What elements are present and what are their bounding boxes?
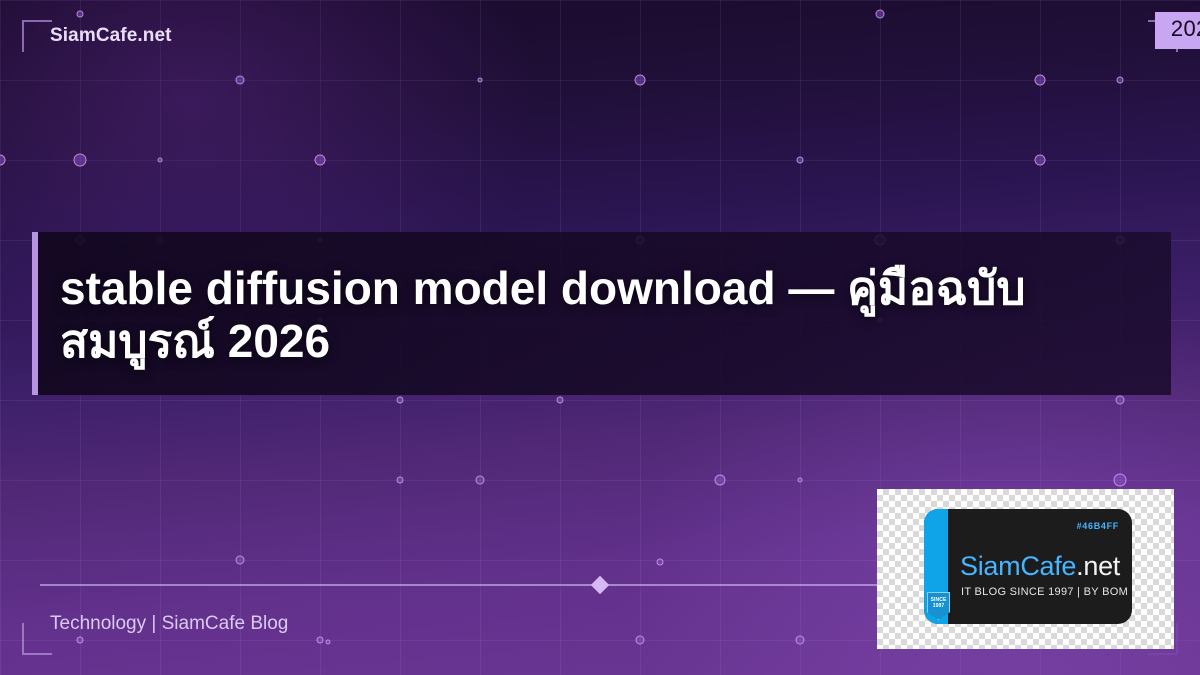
decorative-node bbox=[1035, 155, 1046, 166]
decorative-node bbox=[635, 75, 646, 86]
brand-name: SiamCafe.net bbox=[50, 25, 172, 47]
divider-diamond-marker bbox=[591, 576, 609, 594]
decorative-node bbox=[796, 636, 805, 645]
decorative-node bbox=[1116, 396, 1125, 405]
corner-bracket-bottom-left bbox=[22, 623, 52, 655]
decorative-node bbox=[476, 476, 485, 485]
decorative-node bbox=[798, 478, 803, 483]
decorative-node bbox=[636, 636, 645, 645]
decorative-node bbox=[478, 78, 483, 83]
decorative-node bbox=[315, 155, 326, 166]
decorative-node bbox=[1035, 75, 1046, 86]
logo-card: SINCE 1997 #46B4FF SiamCafe.net IT BLOG … bbox=[877, 489, 1174, 649]
decorative-node bbox=[0, 155, 6, 166]
decorative-node bbox=[397, 397, 404, 404]
logo-hex-label: #46B4FF bbox=[1077, 521, 1119, 531]
page-title: stable diffusion model download — คู่มือ… bbox=[60, 262, 1137, 369]
decorative-node bbox=[317, 637, 324, 644]
logo-tagline: IT BLOG SINCE 1997 | BY BOM bbox=[961, 586, 1128, 598]
decorative-node bbox=[1114, 474, 1127, 487]
decorative-node bbox=[657, 559, 664, 566]
decorative-node bbox=[1117, 77, 1124, 84]
decorative-node bbox=[876, 10, 885, 19]
logo-wordmark: SiamCafe.net bbox=[960, 551, 1120, 582]
decorative-node bbox=[236, 76, 245, 85]
footer-category-line: Technology | SiamCafe Blog bbox=[50, 613, 288, 635]
decorative-node bbox=[715, 475, 726, 486]
logo-wordmark-primary: SiamCafe bbox=[960, 551, 1076, 581]
logo-inner-plate: SINCE 1997 #46B4FF SiamCafe.net IT BLOG … bbox=[924, 509, 1132, 624]
corner-bracket-top-left bbox=[22, 20, 52, 52]
decorative-node bbox=[557, 397, 564, 404]
year-badge: 2026 bbox=[1155, 12, 1200, 49]
decorative-node bbox=[158, 158, 163, 163]
shield-line-year: 1997 bbox=[928, 604, 949, 610]
decorative-node bbox=[797, 157, 804, 164]
decorative-node bbox=[326, 640, 331, 645]
decorative-node bbox=[77, 637, 84, 644]
hero-banner: SiamCafe.net 2026 stable diffusion model… bbox=[0, 0, 1200, 675]
title-panel: stable diffusion model download — คู่มือ… bbox=[32, 232, 1171, 395]
decorative-node bbox=[236, 556, 245, 565]
logo-wordmark-suffix: .net bbox=[1076, 551, 1120, 581]
decorative-node bbox=[74, 154, 87, 167]
decorative-node bbox=[397, 477, 404, 484]
decorative-node bbox=[77, 11, 84, 18]
